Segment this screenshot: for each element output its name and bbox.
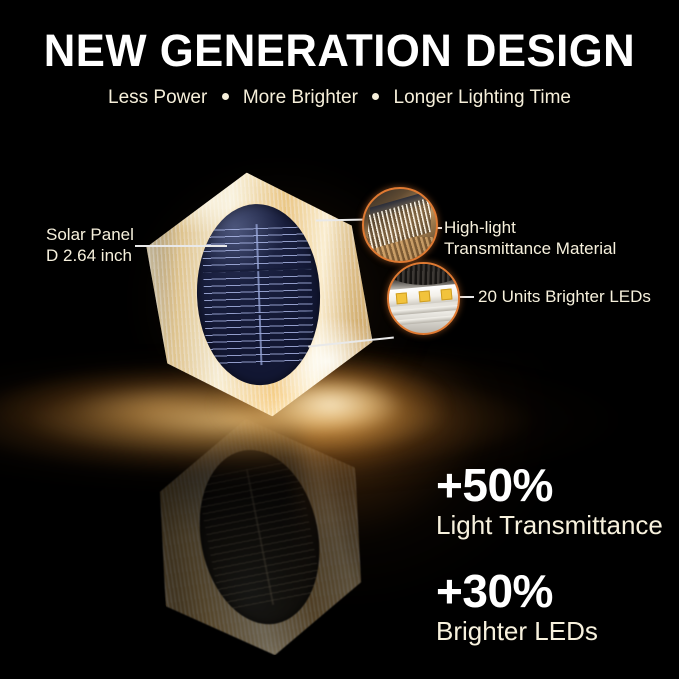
subtitle-part-2: More Brighter xyxy=(243,87,358,108)
led-chip xyxy=(419,291,431,303)
headline: NEW GENERATION DESIGN xyxy=(10,28,669,73)
subtitle-part-1: Less Power xyxy=(108,87,207,108)
solar-panel-gloss xyxy=(194,202,323,387)
subtitle-part-3: Longer Lighting Time xyxy=(394,87,571,108)
bullet-separator-icon xyxy=(222,93,229,100)
annotation-solar-panel: Solar Panel D 2.64 inch xyxy=(46,224,134,266)
stat-brightness-value: +30% xyxy=(436,568,553,614)
annotation-leds-line1: 20 Units Brighter LEDs xyxy=(478,286,651,307)
subtitle: Less Power More Brighter Longer Lighting… xyxy=(0,88,679,107)
annotation-solar-panel-line2: D 2.64 inch xyxy=(46,245,134,266)
stat-transmittance-label: Light Transmittance xyxy=(436,512,663,538)
inset-led-board xyxy=(387,284,460,307)
annotation-leds: 20 Units Brighter LEDs xyxy=(478,286,651,307)
annotation-solar-panel-line1: Solar Panel xyxy=(46,224,134,245)
product-marketing-image: NEW GENERATION DESIGN Less Power More Br… xyxy=(0,0,679,679)
inset-high-light-material xyxy=(362,187,438,263)
annotation-material-line2: Transmittance Material xyxy=(444,238,616,259)
product-reflection xyxy=(144,406,376,667)
inset-led-rail xyxy=(387,315,460,326)
hexagonal-solar-light xyxy=(140,161,379,427)
solar-panel xyxy=(194,202,323,387)
bullet-separator-icon xyxy=(372,93,379,100)
stat-transmittance-value: +50% xyxy=(436,462,553,508)
led-chip xyxy=(396,293,408,305)
inset-led-strip xyxy=(387,262,460,335)
annotation-material: High-light Transmittance Material xyxy=(444,217,616,259)
annotation-material-line1: High-light xyxy=(444,217,616,238)
inset-led-dome xyxy=(387,262,460,285)
led-chip xyxy=(441,289,453,301)
stat-brightness-label: Brighter LEDs xyxy=(436,618,598,644)
